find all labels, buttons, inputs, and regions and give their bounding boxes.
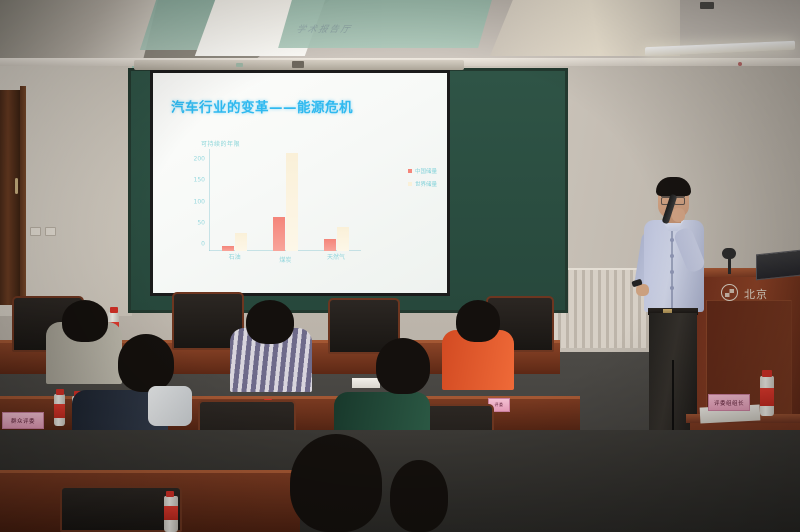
chart-y-axis xyxy=(209,149,210,251)
slide-title: 汽车行业的变革——能源危机 xyxy=(171,96,353,116)
chart-bar-group: 天然气 xyxy=(324,227,349,251)
name-card-podium-text: 评委组组长 xyxy=(714,399,744,407)
speaker-right-hand xyxy=(672,208,685,222)
shirt-button-4 xyxy=(670,286,674,290)
chart-xtick-label: 煤炭 xyxy=(279,255,291,264)
podium-institution-text: 北京 xyxy=(744,286,768,302)
laptop[interactable] xyxy=(756,250,800,281)
chart-bar xyxy=(222,246,234,251)
chart-bar xyxy=(324,239,336,251)
legend-swatch xyxy=(408,182,412,186)
chart-legend: 中国储量世界储量 xyxy=(408,167,437,193)
chart-ytick-label: 0 xyxy=(201,241,205,248)
bottle-label xyxy=(54,404,65,418)
chart-legend-item: 中国储量 xyxy=(408,167,437,175)
projection-screen-frame: 汽车行业的变革——能源危机 可持续的年限 050100150200石油煤炭天然气… xyxy=(150,70,450,296)
podium-microphone-icon xyxy=(722,248,736,259)
chart-bar xyxy=(337,227,349,251)
water-bottle-r2-1[interactable] xyxy=(54,394,65,426)
shirt-button-3 xyxy=(670,270,674,274)
speaker-hair xyxy=(656,177,691,196)
light-switch-2[interactable] xyxy=(45,227,56,236)
person-head xyxy=(376,338,430,394)
ceiling-green-panel-2: 学术报告厅 xyxy=(278,0,492,48)
person-head xyxy=(62,300,108,342)
person-head xyxy=(246,300,294,344)
chart-bar xyxy=(235,233,247,251)
chart-bar xyxy=(286,153,298,251)
university-seal-icon xyxy=(721,284,738,301)
name-card-podium: 评委组组长 xyxy=(708,394,750,411)
name-card-public-judges-text: 群众评委 xyxy=(11,417,35,425)
water-bottle-r1[interactable] xyxy=(164,496,178,532)
person-head xyxy=(456,300,500,342)
projection-screen: 汽车行业的变革——能源危机 可持续的年限 050100150200石油煤炭天然气… xyxy=(153,73,447,293)
legend-label: 世界储量 xyxy=(415,180,437,188)
door-frame xyxy=(20,86,26,308)
name-card-r2-right-text: 评委 xyxy=(495,402,504,408)
ceiling-cove-left xyxy=(0,0,158,64)
door[interactable] xyxy=(0,90,22,305)
chart-legend-item: 世界储量 xyxy=(408,180,437,188)
shirt-button-2 xyxy=(670,254,674,258)
water-bottle-podium[interactable] xyxy=(760,376,774,416)
chart-ytick-label: 100 xyxy=(194,198,205,205)
bar-chart-plot-area: 050100150200石油煤炭天然气 xyxy=(209,149,361,251)
person-head xyxy=(290,434,382,532)
screen-housing-clip xyxy=(292,61,304,68)
chart-ytick-label: 150 xyxy=(194,177,205,184)
bottle-label xyxy=(164,506,178,520)
chart-ytick-label: 50 xyxy=(197,219,205,226)
chart-xtick-label: 石油 xyxy=(229,252,241,261)
chart-bar-group: 石油 xyxy=(222,233,247,251)
ceiling-banner-text: 学术报告厅 xyxy=(294,22,356,35)
chart-bar-group: 煤炭 xyxy=(273,153,298,251)
person-head xyxy=(390,460,448,532)
light-switch-1[interactable] xyxy=(30,227,41,236)
chart-y-axis-label: 可持续的年限 xyxy=(201,139,240,148)
legend-swatch xyxy=(408,169,412,173)
door-handle[interactable] xyxy=(15,178,18,194)
paper-sheet-r2-mid[interactable] xyxy=(352,378,380,388)
bottle-label xyxy=(760,388,774,406)
chart-xtick-label: 天然气 xyxy=(327,252,345,261)
screen-housing-marker xyxy=(236,63,243,67)
shirt-button-1 xyxy=(670,238,674,242)
chart-ytick-label: 200 xyxy=(194,156,205,163)
ceiling-vent-icon xyxy=(700,2,714,9)
legend-label: 中国储量 xyxy=(415,167,437,175)
person-collar xyxy=(148,386,192,426)
lecture-hall-photo: 学术报告厅 汽车行业的变革——能源危机 可持续的年限 050100150200石… xyxy=(0,0,800,532)
chart-bar xyxy=(273,217,285,251)
person-head xyxy=(118,334,174,392)
name-card-public-judges: 群众评委 xyxy=(2,412,44,429)
